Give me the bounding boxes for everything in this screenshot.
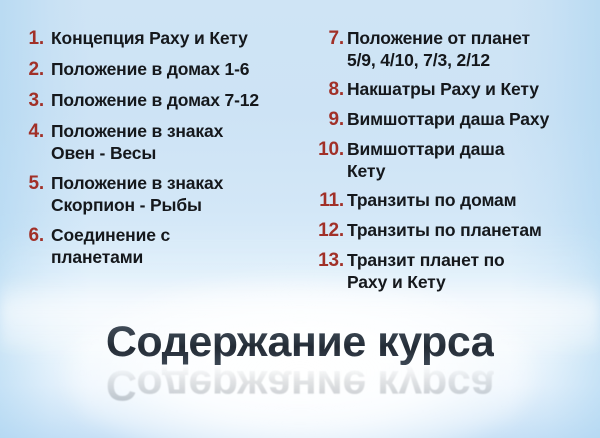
list-item-number: 3. (14, 90, 51, 112)
list-item-text: Накшатры Раху и Кету (347, 79, 594, 101)
list-item-text: Положение в знакахОвен - Весы (51, 121, 306, 164)
list-item-text: Положение в домах 1-6 (51, 59, 306, 81)
list-item: 9. Вимшоттари даша Раху (308, 109, 594, 131)
list-item-line1: Транзит планет по (347, 250, 505, 270)
list-item-text: Концепция Раху и Кету (51, 28, 306, 50)
list-item-line1: Накшатры Раху и Кету (347, 79, 539, 99)
list-item-number: 11. (308, 190, 347, 212)
page-title-mirror: Содержание курса (106, 361, 494, 409)
list-item-number: 7. (308, 28, 347, 50)
list-item-line1: Положение в домах 7-12 (51, 90, 259, 110)
list-item-text: Положение от планет5/9, 4/10, 7/3, 2/12 (347, 28, 594, 71)
list-item-text: Транзиты по планетам (347, 220, 594, 242)
list-item-number: 5. (14, 173, 51, 195)
list-item-line2: Кету (347, 161, 594, 183)
list-item-number: 2. (14, 59, 51, 81)
list-item: 13. Транзит планет поРаху и Кету (308, 250, 594, 293)
list-item-number: 1. (14, 28, 51, 50)
slide-title-reflection: Содержание курса (0, 361, 600, 409)
list-item-line1: Транзиты по планетам (347, 220, 542, 240)
list-item: 5. Положение в знакахСкорпион - Рыбы (14, 173, 306, 216)
list-item-text: Транзиты по домам (347, 190, 594, 212)
list-item-text: Вимшоттари даша Раху (347, 109, 594, 131)
list-item: 4. Положение в знакахОвен - Весы (14, 121, 306, 164)
list-item-number: 12. (308, 220, 347, 242)
course-contents-left-column: 1. Концепция Раху и Кету 2. Положение в … (14, 28, 306, 277)
list-item: 6. Соединение спланетами (14, 225, 306, 268)
list-item: 11. Транзиты по домам (308, 190, 594, 212)
list-item-line2: Овен - Весы (51, 143, 306, 165)
list-item-line1: Концепция Раху и Кету (51, 28, 248, 48)
list-item: 1. Концепция Раху и Кету (14, 28, 306, 50)
list-item-text: Соединение спланетами (51, 225, 306, 268)
page-title: Содержание курса (106, 318, 494, 366)
list-item-text: Вимшоттари дашаКету (347, 139, 594, 182)
list-item: 10. Вимшоттари дашаКету (308, 139, 594, 182)
list-item-line1: Положение в знаках (51, 121, 223, 141)
list-item-number: 10. (308, 139, 347, 161)
slide-canvas: 1. Концепция Раху и Кету 2. Положение в … (0, 0, 600, 438)
list-item: 12. Транзиты по планетам (308, 220, 594, 242)
list-item-number: 4. (14, 121, 51, 143)
list-item-number: 8. (308, 79, 347, 101)
list-item-text: Положение в домах 7-12 (51, 90, 306, 112)
list-item-number: 6. (14, 225, 51, 247)
list-item-line1: Положение в домах 1-6 (51, 59, 249, 79)
list-item-line1: Вимшоттари даша Раху (347, 109, 549, 129)
slide-title-container: Содержание курса (0, 318, 600, 366)
list-item-number: 9. (308, 109, 347, 131)
list-item-line1: Вимшоттари даша (347, 139, 504, 159)
list-item-number: 13. (308, 250, 347, 272)
list-item-line1: Положение от планет (347, 28, 530, 48)
list-item: 2. Положение в домах 1-6 (14, 59, 306, 81)
list-item: 7. Положение от планет5/9, 4/10, 7/3, 2/… (308, 28, 594, 71)
list-item-line2: планетами (51, 247, 306, 269)
list-item: 8. Накшатры Раху и Кету (308, 79, 594, 101)
list-item-line1: Положение в знаках (51, 173, 223, 193)
slide-content: 1. Концепция Раху и Кету 2. Положение в … (0, 0, 600, 438)
course-contents-right-column: 7. Положение от планет5/9, 4/10, 7/3, 2/… (308, 28, 594, 301)
list-item-text: Положение в знакахСкорпион - Рыбы (51, 173, 306, 216)
list-item-line1: Транзиты по домам (347, 190, 516, 210)
list-item: 3. Положение в домах 7-12 (14, 90, 306, 112)
list-item-text: Транзит планет поРаху и Кету (347, 250, 594, 293)
list-item-line1: Соединение с (51, 225, 170, 245)
list-item-line2: Раху и Кету (347, 272, 594, 294)
list-item-line2: 5/9, 4/10, 7/3, 2/12 (347, 50, 594, 72)
list-item-line2: Скорпион - Рыбы (51, 195, 306, 217)
